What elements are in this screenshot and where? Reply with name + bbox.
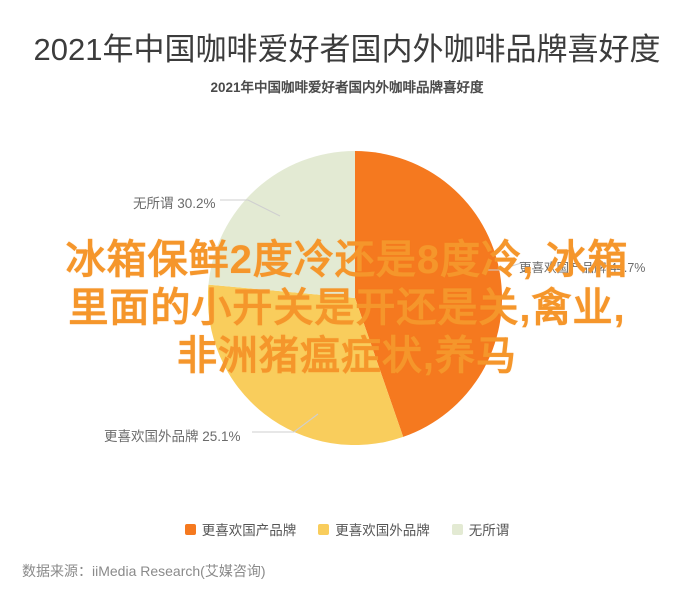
legend-item-foreign[interactable]: 更喜欢国外品牌 xyxy=(318,519,430,539)
data-label-none: 无所谓 30.2% xyxy=(133,192,216,212)
data-label-domestic: 更喜欢国产品牌 44.7% xyxy=(519,257,645,276)
legend-swatch-icon xyxy=(318,524,329,535)
legend-swatch-icon xyxy=(185,524,196,535)
chart-subtitle: 2021年中国咖啡爱好者国内外咖啡品牌喜好度 xyxy=(0,76,694,96)
legend-label: 更喜欢国外品牌 xyxy=(335,519,430,539)
legend-swatch-icon xyxy=(452,524,463,535)
chart-legend: 更喜欢国产品牌 更喜欢国外品牌 无所谓 xyxy=(0,519,694,539)
legend-label: 无所谓 xyxy=(469,519,510,539)
legend-item-domestic[interactable]: 更喜欢国产品牌 xyxy=(185,519,297,539)
pie-slice-none[interactable] xyxy=(208,151,355,298)
leader-line-foreign xyxy=(250,412,322,438)
chart-source: 数据来源：iiMedia Research(艾媒咨询) xyxy=(22,561,265,581)
data-label-foreign: 更喜欢国外品牌 25.1% xyxy=(104,425,241,445)
leader-line-none xyxy=(218,196,288,220)
legend-item-none[interactable]: 无所谓 xyxy=(452,519,510,539)
chart-page: 2021年中国咖啡爱好者国内外咖啡品牌喜好度 2021年中国咖啡爱好者国内外咖啡… xyxy=(0,0,694,594)
legend-label: 更喜欢国产品牌 xyxy=(202,519,297,539)
chart-title: 2021年中国咖啡爱好者国内外咖啡品牌喜好度 xyxy=(0,24,694,69)
